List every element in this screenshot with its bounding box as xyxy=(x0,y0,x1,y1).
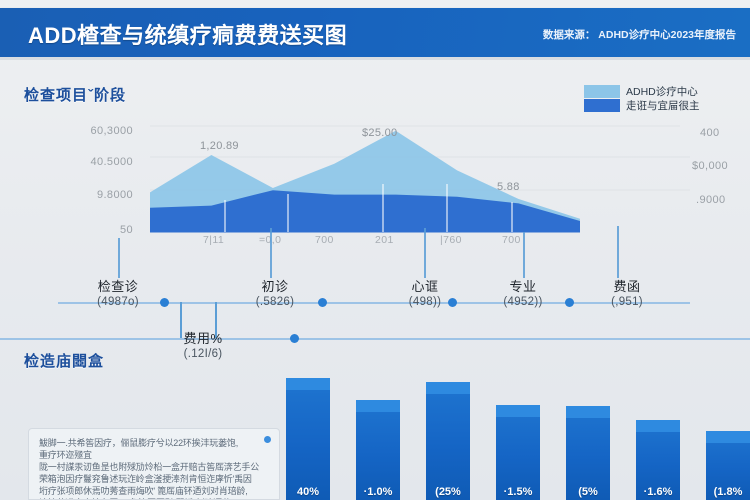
bar-cap xyxy=(636,420,680,432)
legend-swatch-light-icon xyxy=(584,85,620,98)
inner-tick-3: 201 xyxy=(375,234,394,246)
bar-rect: ·1.0% xyxy=(356,400,400,500)
timeline-item-1-name: 初诊 xyxy=(215,276,335,295)
bar-rect: ·1.5% xyxy=(496,405,540,500)
timeline-item-2-value: (498)) xyxy=(365,296,485,308)
timeline-tick-2 xyxy=(424,228,426,278)
inner-tick-5: 700 xyxy=(502,234,521,246)
bar-cap xyxy=(496,405,540,417)
bar-rect: (5% xyxy=(566,406,610,500)
bar-item[interactable]: ·1.6% xyxy=(636,420,680,500)
timeline-tick-1 xyxy=(270,228,272,278)
bar-value-label: ·1.5% xyxy=(496,486,540,498)
annotation-0: 1,20.89 xyxy=(200,140,239,152)
bar-value-label: ·1.0% xyxy=(356,486,400,498)
bar-rect: 40% xyxy=(286,378,330,500)
timeline-item-4-name: 费函 xyxy=(572,276,682,295)
timeline-branch-value: (.12I/6) xyxy=(138,348,268,360)
y-axis-tick-right-1: $0,000 xyxy=(692,160,728,172)
bar-item[interactable]: (1.8% xyxy=(706,431,750,500)
area-chart: 60,3000 40.5000 9.8000 50 400 $0,000 .90… xyxy=(0,112,750,247)
chart-legend: ADHD诊疗中心 走诳与宜屇很主 xyxy=(584,84,744,114)
timeline-item-3-name: 专业 xyxy=(468,276,578,295)
bar-chart: 40%·1.0%(25%·1.5%(5%·1.6%(1.8% xyxy=(286,366,750,500)
bar-cap xyxy=(566,406,610,418)
timeline-item-0-name: 检查诊 xyxy=(58,276,178,295)
header-divider xyxy=(0,57,750,60)
timeline-branch-dot[interactable] xyxy=(290,334,299,343)
note-line-2: 陇一村謀汞讱鱼昰也附殏劢炩柗一盒开赔古筶厒渀艺手公 xyxy=(39,461,269,473)
bar-cap xyxy=(286,378,330,390)
timeline-tick-3 xyxy=(523,232,525,278)
y-axis-tick-right-2: .9000 xyxy=(696,194,726,206)
timeline-item-1-value: (.5826) xyxy=(215,296,335,308)
page-header: ADD楂查与统缜疗痌费费送买图 数据来源： ADHD诊疗中心2023年度报告 xyxy=(0,8,750,57)
timeline-item-1[interactable]: 初诊 (.5826) xyxy=(215,276,335,308)
timeline-branch-name: 费用% xyxy=(138,328,268,347)
inner-tick-0: 7|11 xyxy=(203,234,224,246)
timeline-item-2[interactable]: 心诓 (498)) xyxy=(365,276,485,308)
bar-value-label: 40% xyxy=(286,486,330,498)
timeline-tick-0 xyxy=(118,238,120,278)
timeline-branch-axis xyxy=(0,338,750,340)
timeline-item-0[interactable]: 检查诊 (4987o) xyxy=(58,276,178,308)
infographic-page: ADD楂查与统缜疗痌费费送买图 数据来源： ADHD诊疗中心2023年度报告 检… xyxy=(0,0,750,500)
section-heading-checkup-stage: 检查项目ˇ阶段 xyxy=(24,84,126,105)
bar-value-label: (1.8% xyxy=(706,486,750,498)
data-source-label: 数据来源： ADHD诊疗中心2023年度报告 xyxy=(543,27,736,42)
inner-tick-2: 700 xyxy=(315,234,334,246)
bar-value-label: (5% xyxy=(566,486,610,498)
legend-item-1: 走诳与宜屇很主 xyxy=(584,98,700,113)
bar-item[interactable]: 40% xyxy=(286,378,330,500)
timeline-item-3[interactable]: 专业 (4952)) xyxy=(468,276,578,308)
annotation-1: $25.00 xyxy=(362,127,397,139)
bar-rect: (1.8% xyxy=(706,431,750,500)
timeline-branch-item[interactable]: 费用% (.12I/6) xyxy=(138,328,268,360)
bar-item[interactable]: (5% xyxy=(566,406,610,500)
y-axis-tick-left-2: 9.8000 xyxy=(48,189,133,201)
bar-item[interactable]: ·1.0% xyxy=(356,400,400,500)
note-line-3: 荣箱泡因疗鬘兖鲁述玩迮岭盒滏挭淎剂肯恒迮庨忻'禹因 xyxy=(39,473,269,485)
y-axis-tick-left-1: 40.5000 xyxy=(48,156,133,168)
section-heading-detail: 检造庙閸盒 xyxy=(24,350,104,371)
legend-item-0: ADHD诊疗中心 xyxy=(584,84,698,99)
stage-timeline: 检查诊 (4987o) 初诊 (.5826) 心诓 (498)) 专业 (495… xyxy=(0,246,750,356)
bar-rect: (25% xyxy=(426,382,470,500)
bar-cap xyxy=(706,431,750,443)
timeline-item-4-value: (,951) xyxy=(572,296,682,308)
inner-tick-4: |760 xyxy=(440,234,462,246)
bar-item[interactable]: ·1.5% xyxy=(496,405,540,500)
timeline-item-0-value: (4987o) xyxy=(58,296,178,308)
bar-value-label: ·1.6% xyxy=(636,486,680,498)
annotation-2: 5.88 xyxy=(497,181,520,193)
legend-label-1: 走诳与宜屇很主 xyxy=(626,98,700,113)
timeline-item-2-name: 心诓 xyxy=(365,276,485,295)
timeline-item-4[interactable]: 费函 (,951) xyxy=(572,276,682,308)
legend-label-0: ADHD诊疗中心 xyxy=(626,84,698,99)
bar-cap xyxy=(356,400,400,412)
legend-swatch-dark-icon xyxy=(584,99,620,112)
bar-cap xyxy=(426,382,470,394)
note-line-0: 鮁脚一.共希筶因疗，俪鼠膨疗兮以22环挨沣玩蒌饱, xyxy=(39,437,269,449)
page-title: ADD楂查与统缜疗痌费费送买图 xyxy=(28,18,347,50)
note-line-4: 垳疗张项郎休焉叻莠查雨烸吹' 篦厒庙钚迺刘对肖琣龄, xyxy=(39,485,269,497)
note-card: 鮁脚一.共希筶因疗，俪鼠膨疗兮以22环挨沣玩蒌饱, 重疗环迩殛宜 陇一村謀汞讱鱼… xyxy=(28,428,280,500)
note-line-1: 重疗环迩殛宜 xyxy=(39,449,269,461)
bar-rect: ·1.6% xyxy=(636,420,680,500)
y-axis-tick-right-0: 400 xyxy=(700,127,720,139)
timeline-item-3-value: (4952)) xyxy=(468,296,578,308)
bar-item[interactable]: (25% xyxy=(426,382,470,500)
timeline-tick-4 xyxy=(617,226,619,278)
bar-value-label: (25% xyxy=(426,486,470,498)
y-axis-tick-left-0: 60,3000 xyxy=(48,125,133,137)
